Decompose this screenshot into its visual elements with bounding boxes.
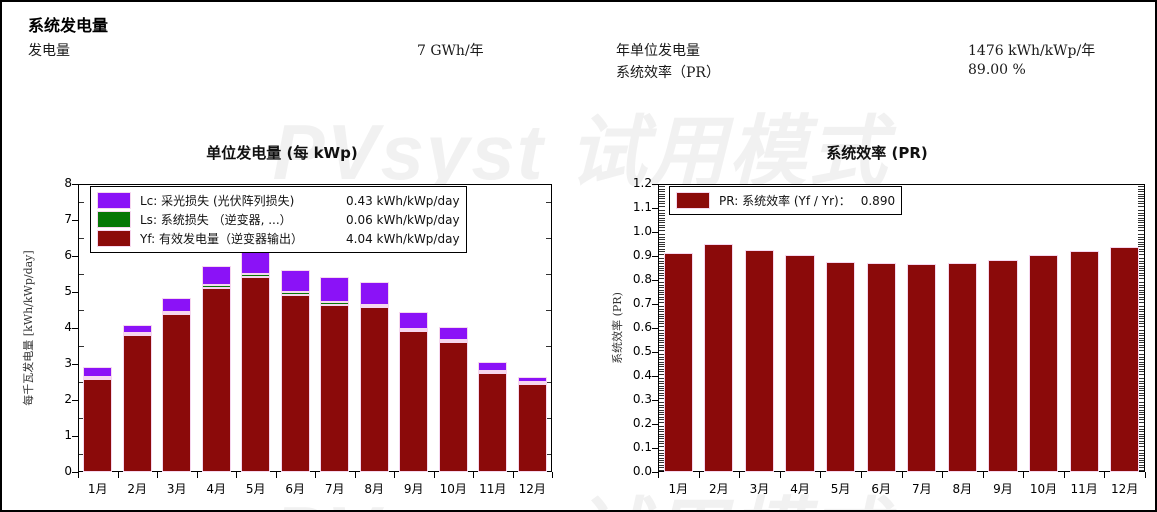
chart0-segment-yf-9 [399,331,428,472]
chart0-segment-lc-11 [478,362,507,371]
chart0-segment-lc-9 [399,312,428,329]
chart0-y-tick-label: 6 [56,248,72,262]
chart0-segment-ls-10 [439,340,468,342]
chart0-y-tick-label: 7 [56,212,72,226]
chart0-legend: Lc: 采光损失 (光伏阵列损失)0.43 kWh/kWp/dayLs: 系统损… [90,186,467,253]
chart1-bar-8[interactable] [948,184,977,472]
chart0-x-tick-label: 5月 [236,480,276,497]
chart1-segment-pr-4 [785,255,814,472]
chart0-y-axis-label: 每千瓦发电量 [kWh/kWp/day] [20,184,36,472]
chart1-segment-pr-11 [1070,251,1099,472]
chart0-segment-ls-11 [478,371,507,373]
chart0-x-tick-label: 3月 [157,480,197,497]
chart1-y-tick [652,280,659,281]
chart1-y-tick [652,304,659,305]
chart1-x-tick-label: 1月 [658,480,699,497]
chart1-x-tick-label: 5月 [820,480,861,497]
chart0-x-tick-label: 8月 [355,480,395,497]
legend-swatch-pr-icon [676,192,710,209]
chart0-segment-lc-1 [83,367,112,377]
chart1-x-tick [658,472,659,478]
chart1-y-tick-label: 1.2 [626,176,652,190]
chart-title-performance-ratio: 系统效率 (PR) [597,142,1157,163]
chart0-segment-ls-6 [281,292,310,295]
chart1-x-tick-label: 6月 [861,480,902,497]
chart1-y-tick-label: 1.0 [626,224,652,238]
chart1-segment-pr-7 [907,264,936,472]
chart0-x-tick-label: 6月 [276,480,316,497]
chart1-x-tick [780,472,781,478]
chart0-segment-yf-1 [83,379,112,472]
chart1-x-tick-label: 4月 [780,480,821,497]
chart1-segment-pr-9 [988,260,1017,472]
chart0-segment-ls-4 [202,285,231,288]
chart0-x-tick-label: 1月 [78,480,118,497]
chart0-segment-yf-8 [360,307,389,472]
legend-item-yf: Yf: 有效发电量（逆变器输出）4.04 kWh/kWp/day [97,229,460,248]
chart0-x-tick [78,472,79,478]
chart1-y-tick-label: 0.3 [626,392,652,406]
chart0-y-tick [72,400,79,401]
chart0-segment-lc-12 [518,377,547,382]
chart1-y-tick-label: 0.8 [626,272,652,286]
chart1-y-tick [652,232,659,233]
chart1-x-tick [1145,472,1146,478]
legend-value-lc: 0.43 kWh/kWp/day [336,194,460,208]
chart1-segment-pr-6 [867,263,896,472]
chart1-y-tick-label: 1.1 [626,200,652,214]
legend-swatch-ls-icon [97,211,131,228]
chart0-y-tick [72,256,79,257]
chart1-x-tick-label: 9月 [983,480,1024,497]
chart1-y-tick-label: 0.4 [626,368,652,382]
chart0-segment-ls-9 [399,329,428,331]
chart1-x-tick [1064,472,1065,478]
chart1-y-tick [652,448,659,449]
chart1-y-axis-label: 系统效率 (PR) [609,184,625,472]
chart1-y-tick [652,328,659,329]
chart1-x-tick [861,472,862,478]
chart0-segment-yf-2 [123,335,152,472]
chart0-segment-yf-4 [202,288,231,472]
chart0-segment-lc-6 [281,270,310,292]
specific-energy-label: 年单位发电量 [616,40,700,60]
chart1-x-tick-label: 7月 [902,480,943,497]
chart1-y-tick [652,208,659,209]
legend-item-pr: PR: 系统效率 (Yf / Yr)：0.890 [676,191,895,210]
chart-title-specific-production: 单位发电量 (每 kWp) [2,142,562,163]
chart1-x-tick [902,472,903,478]
chart0-y-tick-label: 8 [56,176,72,190]
chart0-x-tick-label: 2月 [118,480,158,497]
chart0-segment-yf-3 [162,314,191,472]
specific-energy-value: 1476 kWh/kWp/年 [968,40,1095,60]
chart0-y-tick [72,364,79,365]
chart1-legend: PR: 系统效率 (Yf / Yr)：0.890 [669,186,902,215]
chart1-bar-5[interactable] [826,184,855,472]
chart0-bar-11[interactable] [478,184,507,472]
chart0-segment-yf-6 [281,295,310,472]
chart1-bar-10[interactable] [1029,184,1058,472]
chart1-bar-7[interactable] [907,184,936,472]
chart1-y-tick-label: 0.0 [626,464,652,478]
chart0-segment-lc-3 [162,298,191,312]
chart0-segment-yf-11 [478,373,507,472]
legend-label-lc: Lc: 采光损失 (光伏阵列损失) [140,192,336,209]
legend-value-pr: 0.890 [851,194,895,208]
chart1-segment-pr-5 [826,262,855,472]
chart1-bar-2[interactable] [704,184,733,472]
chart1-y-tick [652,424,659,425]
chart1-x-tick [739,472,740,478]
chart1-y-tick [652,376,659,377]
chart0-x-tick-label: 10月 [434,480,474,497]
chart1-segment-pr-2 [704,244,733,472]
chart1-x-tick-label: 12月 [1104,480,1145,497]
chart0-segment-yf-10 [439,342,468,472]
chart1-segment-pr-12 [1110,247,1139,472]
chart0-segment-lc-2 [123,325,152,333]
legend-label-pr: PR: 系统效率 (Yf / Yr)： [719,192,851,209]
chart0-x-tick-label: 9月 [394,480,434,497]
chart1-segment-pr-8 [948,263,977,472]
chart1-segment-pr-3 [745,250,774,472]
legend-label-ls: Ls: 系统损失 （逆变器, ...） [140,211,336,228]
chart1-bar-6[interactable] [867,184,896,472]
chart1-x-tick [820,472,821,478]
chart1-x-tick-label: 2月 [699,480,740,497]
chart1-y-tick-label: 0.5 [626,344,652,358]
chart0-segment-yf-5 [241,277,270,472]
chart0-x-tick [513,472,514,478]
chart0-y-tick [72,328,79,329]
chart1-x-tick-label: 10月 [1023,480,1064,497]
chart0-y-tick-label: 5 [56,284,72,298]
performance-ratio-label: 系统效率（PR） [616,62,720,82]
page-title: 系统发电量 [28,12,108,36]
chart1-y-tick-label: 0.6 [626,320,652,334]
chart1-x-tick-label: 3月 [739,480,780,497]
chart0-x-tick-label: 11月 [473,480,513,497]
chart0-segment-yf-7 [320,305,349,472]
chart0-x-tick [197,472,198,478]
chart1-bar-4[interactable] [785,184,814,472]
chart0-segment-ls-5 [241,274,270,277]
chart0-segment-lc-7 [320,277,349,303]
chart0-segment-ls-1 [83,377,112,379]
chart1-y-tick-label: 0.2 [626,416,652,430]
chart0-y-tick-label: 4 [56,320,72,334]
chart0-x-tick-label: 7月 [315,480,355,497]
chart1-y-tick [652,184,659,185]
chart1-x-tick [699,472,700,478]
chart1-bar-9[interactable] [988,184,1017,472]
chart0-y-tick-label: 1 [56,428,72,442]
chart0-y-tick [72,184,79,185]
legend-swatch-yf-icon [97,230,131,247]
chart0-segment-yf-12 [518,384,547,472]
chart1-x-tick [1104,472,1105,478]
chart0-y-tick [72,436,79,437]
chart0-x-tick [276,472,277,478]
chart0-segment-lc-10 [439,327,468,340]
chart0-segment-ls-12 [518,382,547,384]
chart0-x-tick [157,472,158,478]
chart0-x-tick [552,472,553,478]
energy-label: 发电量 [28,40,70,60]
chart0-segment-ls-2 [123,333,152,335]
chart1-y-tick-label: 0.1 [626,440,652,454]
chart1-y-tick-label: 0.9 [626,248,652,262]
chart1-bar-11[interactable] [1070,184,1099,472]
chart1-x-tick-label: 11月 [1064,480,1105,497]
legend-label-yf: Yf: 有效发电量（逆变器输出） [140,230,336,247]
energy-value: 7 GWh/年 [417,40,484,60]
chart1-bar-12[interactable] [1110,184,1139,472]
chart0-x-tick [434,472,435,478]
chart0-y-tick [72,292,79,293]
chart1-x-tick [1023,472,1024,478]
chart1-bar-1[interactable] [664,184,693,472]
chart0-y-tick-label: 3 [56,356,72,370]
chart1-y-tick [652,400,659,401]
chart-performance-ratio: 系统效率 (PR) 0.00.10.20.30.40.50.60.70.80.9… [597,172,1157,512]
chart1-x-tick-label: 8月 [942,480,983,497]
chart0-segment-lc-4 [202,266,231,285]
chart0-x-tick [394,472,395,478]
report-page: PVsyst 试用模式 PVsyst 试用模式 系统发电量 发电量 7 GWh/… [0,0,1157,512]
legend-value-yf: 4.04 kWh/kWp/day [336,232,460,246]
chart1-bar-3[interactable] [745,184,774,472]
chart1-y-tick [652,352,659,353]
chart0-x-tick-label: 4月 [197,480,237,497]
chart1-y-tick-label: 0.7 [626,296,652,310]
legend-value-ls: 0.06 kWh/kWp/day [336,213,460,227]
chart0-x-tick [355,472,356,478]
legend-item-lc: Lc: 采光损失 (光伏阵列损失)0.43 kWh/kWp/day [97,191,460,210]
chart0-x-tick [315,472,316,478]
chart0-x-tick [118,472,119,478]
chart0-segment-ls-3 [162,312,191,314]
chart0-y-tick [72,220,79,221]
chart0-y-tick-label: 0 [56,464,72,478]
chart0-segment-lc-8 [360,282,389,305]
chart0-segment-ls-8 [360,305,389,308]
chart0-bar-12[interactable] [518,184,547,472]
chart0-x-tick [473,472,474,478]
chart0-y-tick-label: 2 [56,392,72,406]
chart0-segment-ls-7 [320,302,349,305]
chart1-segment-pr-1 [664,253,693,472]
chart1-x-tick [942,472,943,478]
chart0-x-tick-label: 12月 [513,480,553,497]
chart0-x-tick [236,472,237,478]
chart1-segment-pr-10 [1029,255,1058,472]
performance-ratio-value: 89.00 % [968,62,1026,78]
chart-specific-production: 每千瓦发电量 [kWh/kWp/day] 0123456781月2月3月4月5月… [2,172,562,512]
chart1-y-tick [652,256,659,257]
legend-swatch-lc-icon [97,192,131,209]
chart1-x-tick [983,472,984,478]
legend-item-ls: Ls: 系统损失 （逆变器, ...）0.06 kWh/kWp/day [97,210,460,229]
